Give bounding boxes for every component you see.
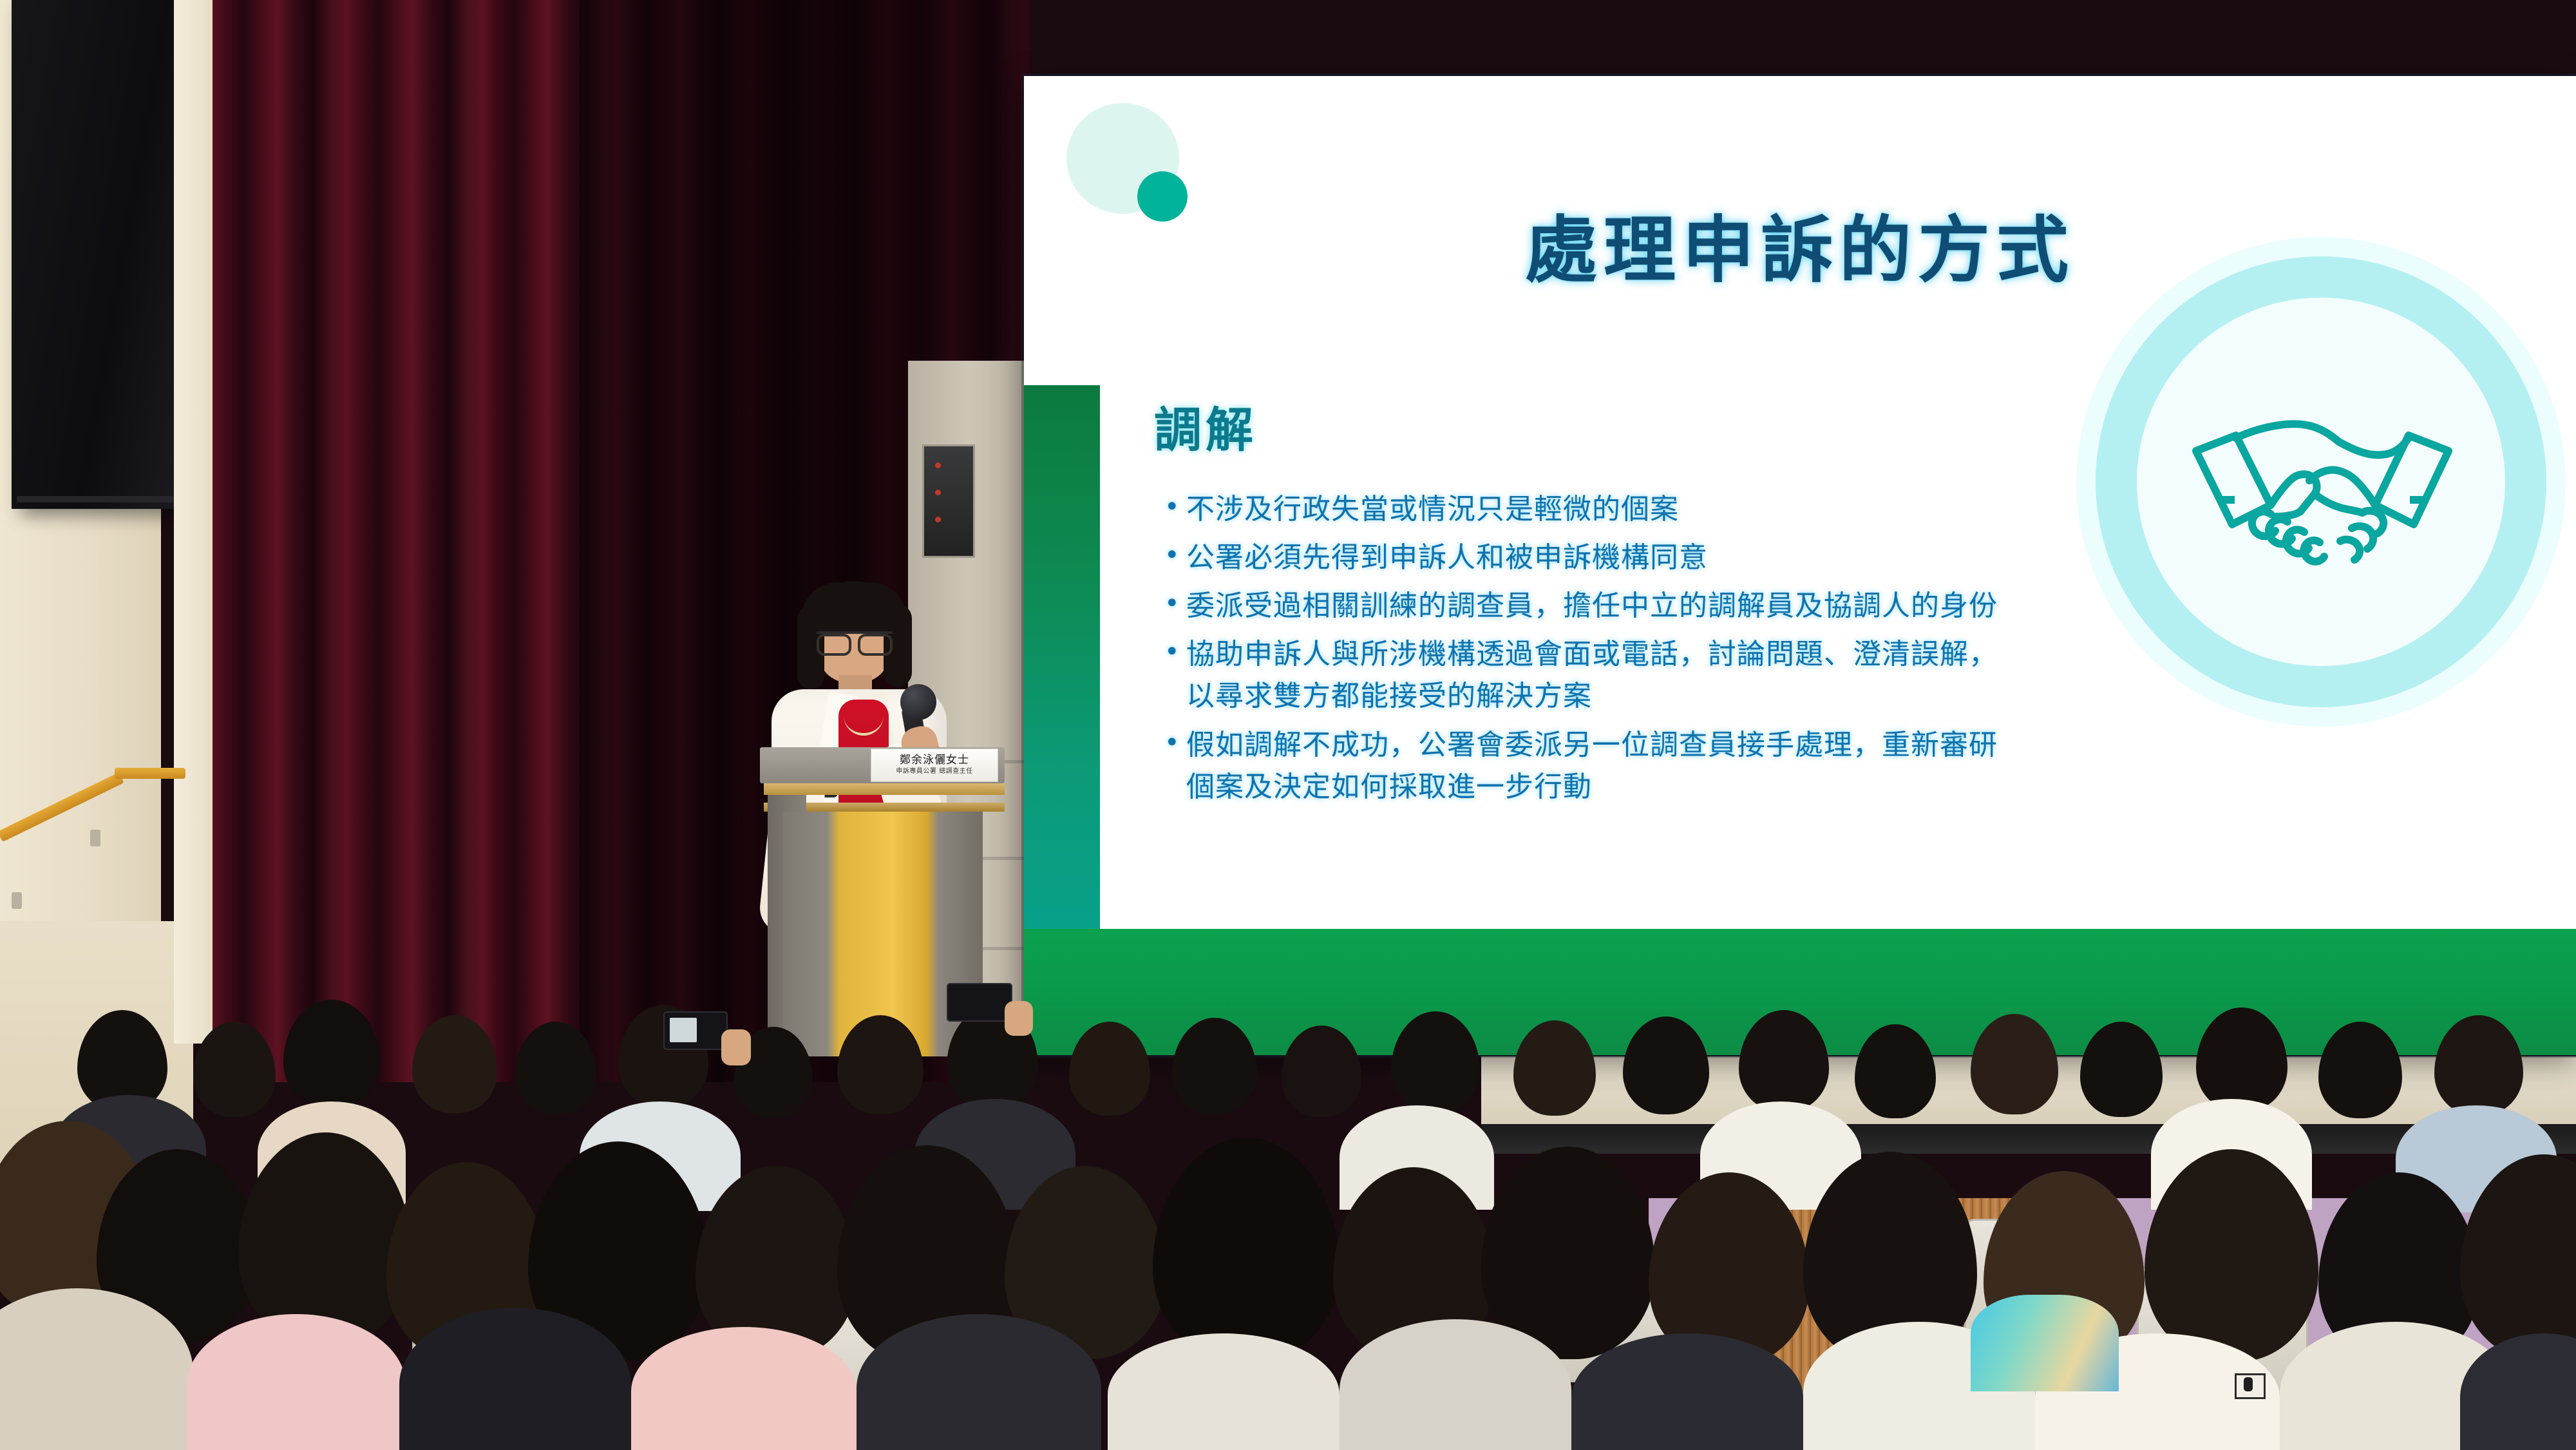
microphone-icon xyxy=(900,684,936,720)
projection-screen: 處理申訴的方式 調解 • 不涉及行政失當或情況只是輕微的個案 • 公署必須先得到… xyxy=(1024,76,2576,1055)
wall-speaker-icon xyxy=(12,0,189,509)
bullet-marker: • xyxy=(1164,585,1186,623)
indicator-light xyxy=(935,517,941,522)
indicator-light xyxy=(935,463,941,468)
podium-shelf-upper xyxy=(764,783,1005,795)
speaker-glasses xyxy=(817,631,893,651)
slide-green-side-band xyxy=(1024,385,1100,933)
bullet-marker: • xyxy=(1164,633,1186,671)
slide-bottom-green-band xyxy=(1024,929,2576,1055)
bullet-marker: • xyxy=(1164,537,1186,575)
nameplate-name: 鄭余泳儷女士 xyxy=(900,755,969,767)
left-wall-lower xyxy=(0,921,193,1192)
wood-wall-slats xyxy=(1739,1198,2074,1391)
handrail-bracket xyxy=(90,830,100,846)
bullet-marker: • xyxy=(1164,488,1186,526)
bullet-text: 假如調解不成功，公署會委派另一位調查員接手處理，重新審研個案及決定如何採取進一步… xyxy=(1186,724,2021,808)
podium-body xyxy=(783,812,983,1056)
slide-bullet-item: • 委派受過相關訓練的調查員，擔任中立的調解員及協調人的身份 xyxy=(1164,585,2021,627)
slide-bullet-item: • 假如調解不成功，公署會委派另一位調查員接手處理，重新審研個案及決定如何採取進… xyxy=(1164,724,2021,808)
slide-title: 處理申訴的方式 xyxy=(1024,192,2576,296)
wall-control-box xyxy=(922,444,975,558)
slide-bullet-list: • 不涉及行政失當或情況只是輕微的個案 • 公署必須先得到申訴人和被申訴機構同意… xyxy=(1164,488,2021,814)
bullet-text: 協助申訴人與所涉機構透過會面或電話，討論問題、澄清誤解，以尋求雙方都能接受的解決… xyxy=(1186,633,2021,717)
handrail-bracket xyxy=(12,892,22,909)
nameplate-title: 申訴專員公署 總調查主任 xyxy=(896,768,972,776)
slide-bullet-item: • 協助申訴人與所涉機構透過會面或電話，討論問題、澄清誤解，以尋求雙方都能接受的… xyxy=(1164,633,2021,717)
stage-apron xyxy=(1481,1056,2576,1127)
podium: 鄭余泳儷女士 申訴專員公署 總調查主任 xyxy=(760,747,1005,1056)
bullet-text: 委派受過相關訓練的調查員，擔任中立的調解員及協調人的身份 xyxy=(1186,585,2021,627)
screenshot-root: 處理申訴的方式 調解 • 不涉及行政失當或情況只是輕微的個案 • 公署必須先得到… xyxy=(0,0,2576,1450)
handshake-icon xyxy=(2174,379,2470,591)
indicator-light xyxy=(935,490,941,495)
bullet-text: 不涉及行政失當或情況只是輕微的個案 xyxy=(1186,488,2021,530)
bullet-text: 公署必須先得到申訴人和被申訴機構同意 xyxy=(1186,537,2021,578)
slide-section-heading: 調解 xyxy=(1154,392,1257,461)
podium-nameplate: 鄭余泳儷女士 申訴專員公署 總調查主任 xyxy=(871,749,998,782)
stair-handrail-top xyxy=(115,768,185,779)
slide-bullet-item: • 不涉及行政失當或情況只是輕微的個案 xyxy=(1164,488,2021,530)
slide-bullet-item: • 公署必須先得到申訴人和被申訴機構同意 xyxy=(1164,537,2021,578)
bullet-marker: • xyxy=(1164,724,1186,762)
